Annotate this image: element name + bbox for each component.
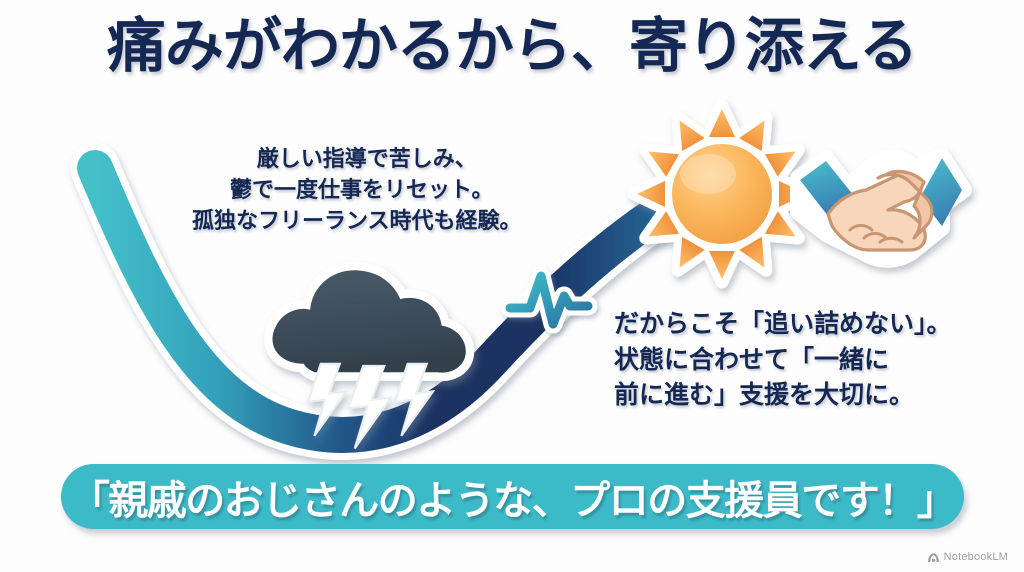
left-text-line-1: 厳しい指導で苦しみ、 <box>212 143 522 174</box>
closing-statement-banner: 「親戚のおじさんのような、プロの支援員です！」 <box>61 464 964 529</box>
closing-statement-text: 「親戚のおじさんのような、プロの支援員です！」 <box>61 464 964 529</box>
cloud-body <box>272 270 465 372</box>
handshake-icon <box>798 156 964 260</box>
left-text-line-2: 鬱で一度仕事をリセット。 <box>202 174 522 205</box>
infographic-canvas: 痛みがわかるから、寄り添える <box>0 0 1024 572</box>
right-text-line-3: 前に進む」支援を大切に。 <box>614 378 952 414</box>
notebooklm-logo-icon <box>927 552 940 563</box>
right-narrative-text: だからこそ「追い詰めない」。 状態に合わせて「一緒に 前に進む」支援を大切に。 <box>614 307 952 414</box>
watermark: NotebookLM <box>927 551 1008 563</box>
sun-highlight <box>680 154 736 194</box>
sun-icon <box>634 106 810 282</box>
right-text-line-2: 状態に合わせて「一緒に <box>614 343 952 379</box>
left-text-line-3: 孤独なフリーランス時代も経験。 <box>192 205 522 236</box>
watermark-label: NotebookLM <box>944 551 1008 563</box>
left-narrative-text: 厳しい指導で苦しみ、 鬱で一度仕事をリセット。 孤独なフリーランス時代も経験。 <box>206 143 522 237</box>
right-text-line-1: だからこそ「追い詰めない」。 <box>614 307 952 343</box>
